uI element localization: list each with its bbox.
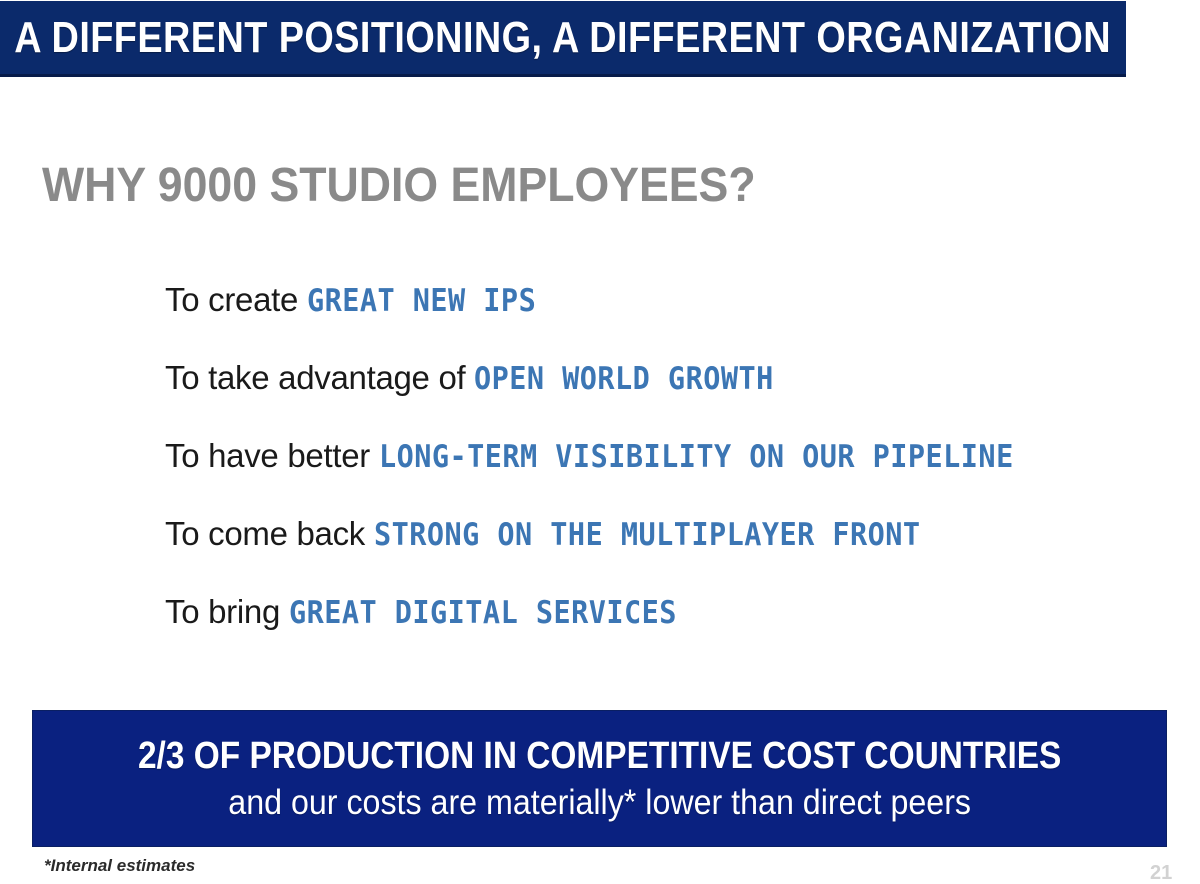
bullet-highlight-text: GREAT NEW IPS [307,273,536,329]
callout-headline: 2/3 OF PRODUCTION IN COMPETITIVE COST CO… [138,733,1061,779]
bullet-lead-text: To bring [165,593,289,630]
bullet-lead-text: To take advantage of [165,359,474,396]
list-item: To have better LONG-TERM VISIBILITY ON O… [165,428,1165,506]
bullet-highlight-text: OPEN WORLD GROWTH [474,351,774,407]
section-heading: WHY 9000 STUDIO EMPLOYEES? [42,158,756,214]
footnote: *Internal estimates [44,856,195,876]
bullet-lead-text: To create [165,281,307,318]
bullet-highlight-text: STRONG ON THE MULTIPLAYER FRONT [374,507,921,563]
list-item: To create GREAT NEW IPS [165,272,1165,350]
list-item: To bring GREAT DIGITAL SERVICES [165,584,1165,662]
page-title: A DIFFERENT POSITIONING, A DIFFERENT ORG… [15,16,1112,60]
list-item: To take advantage of OPEN WORLD GROWTH [165,350,1165,428]
bullet-lead-text: To have better [165,437,379,474]
list-item: To come back STRONG ON THE MULTIPLAYER F… [165,506,1165,584]
callout-banner: 2/3 OF PRODUCTION IN COMPETITIVE COST CO… [32,710,1167,847]
slide-title-banner: A DIFFERENT POSITIONING, A DIFFERENT ORG… [0,1,1126,77]
bullet-highlight-text: LONG-TERM VISIBILITY ON OUR PIPELINE [379,429,1014,485]
bullet-lead-text: To come back [165,515,374,552]
bullet-list: To create GREAT NEW IPS To take advantag… [165,272,1165,662]
page-number: 21 [1150,862,1172,884]
callout-subline: and our costs are materially* lower than… [228,781,971,825]
bullet-highlight-text: GREAT DIGITAL SERVICES [289,585,677,641]
